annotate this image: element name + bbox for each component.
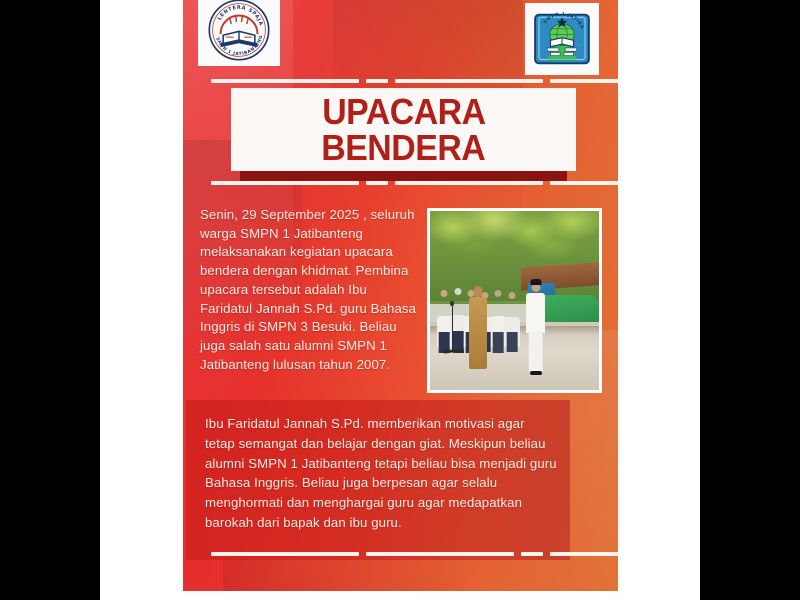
divider-top <box>211 79 593 83</box>
school-emblem-icon: SMPN 1 JATIBANTENG <box>530 7 594 71</box>
paragraph-two: Ibu Faridatul Jannah S.Pd. memberikan mo… <box>205 414 557 533</box>
divider-segment <box>366 552 514 556</box>
divider-segment <box>395 181 543 185</box>
divider-middle <box>211 181 593 185</box>
divider-segment <box>211 552 359 556</box>
divider-segment <box>521 552 543 556</box>
photo-teacher <box>469 297 488 369</box>
divider-segment <box>366 181 388 185</box>
divider-bottom <box>211 552 593 556</box>
ceremony-photo <box>427 208 602 393</box>
poster: LENTERA SPAJA SMPN 1 JATIBANTENG <box>183 0 618 591</box>
ceremony-photo-image <box>430 211 599 390</box>
paragraph-one: Senin, 29 September 2025 , seluruh warga… <box>200 206 416 375</box>
lentera-spaja-logo-icon: LENTERA SPAJA SMPN 1 JATIBANTENG <box>204 0 274 63</box>
photo-ceremony-leader <box>526 293 545 372</box>
divider-segment <box>550 79 618 83</box>
smpn1-jatibanteng-emblem: SMPN 1 JATIBANTENG <box>525 3 599 75</box>
screenshot-canvas: LENTERA SPAJA SMPN 1 JATIBANTENG <box>0 0 800 600</box>
divider-segment <box>211 181 359 185</box>
divider-segment <box>395 79 543 83</box>
photo-microphone-stand <box>452 304 453 351</box>
title-line-1: UPACARA <box>322 94 485 130</box>
divider-segment <box>550 181 618 185</box>
lentera-spaja-logo: LENTERA SPAJA SMPN 1 JATIBANTENG <box>198 0 280 66</box>
divider-segment <box>211 79 359 83</box>
divider-segment <box>366 79 388 83</box>
photo-student <box>504 299 519 347</box>
title-shadow-bar <box>240 170 567 181</box>
page-title: UPACARA BENDERA <box>231 88 576 171</box>
divider-segment <box>550 552 618 556</box>
title-line-2: BENDERA <box>321 130 485 166</box>
